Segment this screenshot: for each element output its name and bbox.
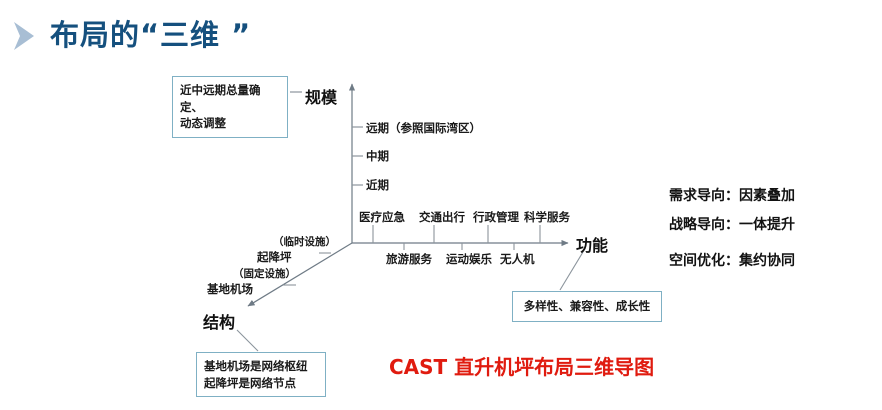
axis-label-scale: 规模 [305, 84, 337, 108]
callout-structure: 基地机场是网络枢纽 起降坪是网络节点 [196, 352, 326, 397]
structure-tick-sublabel: （临时设施） [273, 234, 336, 249]
structure-tick-label: 起降坪 [257, 249, 292, 265]
axis-label-function: 功能 [576, 232, 608, 256]
structure-tick-label: 基地机场 [207, 281, 253, 297]
function-tick-label: 运动娱乐 [446, 251, 492, 267]
diagram-caption: CAST 直升机坪布局三维导图 [389, 351, 654, 380]
structure-tick-sublabel: （固定设施） [233, 266, 296, 281]
scale-tick-label: 远期（参照国际湾区） [366, 120, 481, 136]
callout-function: 多样性、兼容性、成长性 [512, 291, 662, 322]
connector-structure [237, 330, 258, 351]
statement-space: 空间优化：集约协同 [669, 250, 795, 270]
scale-tick-label: 近期 [366, 177, 389, 193]
statement-demand: 需求导向：因素叠加 [669, 185, 795, 205]
function-tick-label: 无人机 [500, 251, 535, 267]
function-tick-label: 交通出行 [419, 209, 465, 225]
function-tick-label: 医疗应急 [359, 209, 405, 225]
function-tick-label: 科学服务 [524, 209, 570, 225]
scale-tick-label: 中期 [366, 148, 389, 164]
diagram-axes [0, 0, 882, 410]
statement-strategy: 战略导向：一体提升 [669, 214, 795, 234]
slide-canvas: 布局的“三维 ” [0, 0, 882, 410]
function-tick-label: 行政管理 [473, 209, 519, 225]
connector-function [560, 252, 583, 290]
callout-scale: 近中远期总量确定、 动态调整 [172, 76, 288, 138]
axis-label-structure: 结构 [203, 309, 235, 333]
function-tick-label: 旅游服务 [386, 251, 432, 267]
